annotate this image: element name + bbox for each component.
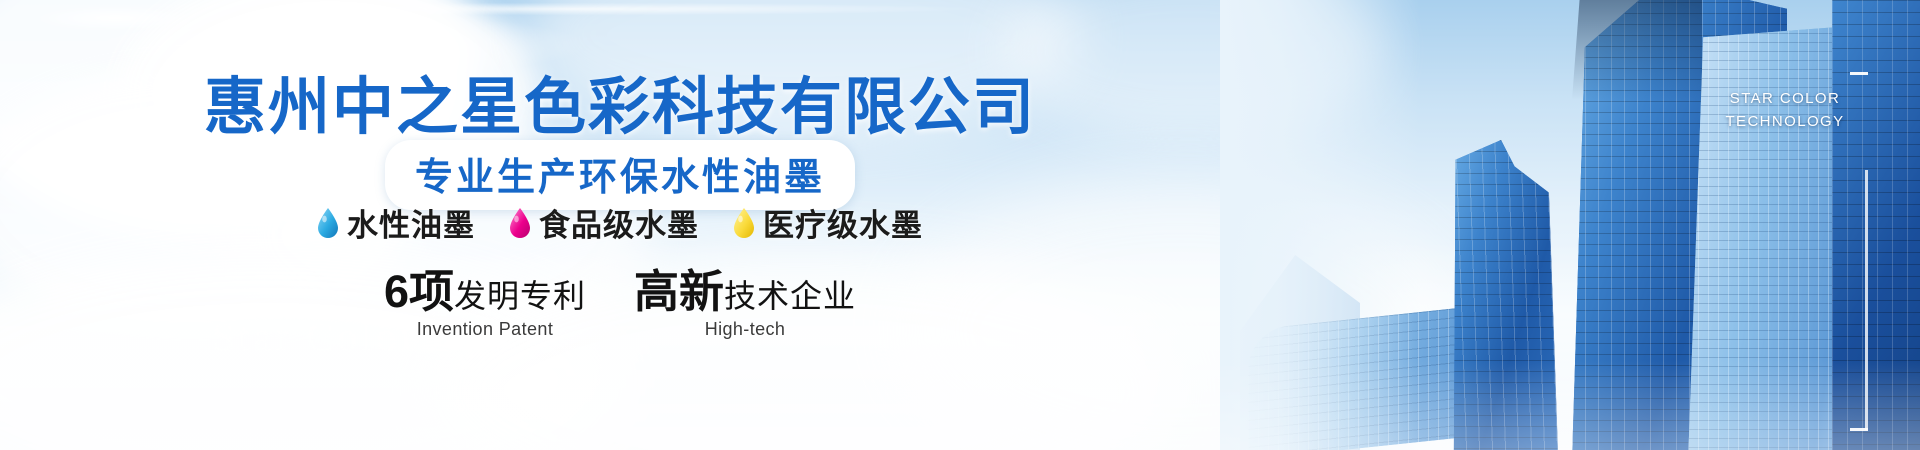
ink-type-item: 食品级水墨 (509, 200, 699, 245)
credential-english: High-tech (634, 319, 856, 340)
building-shadow-cap (1572, 0, 1702, 100)
brand-tick-bottom (1850, 428, 1868, 431)
credential-item: 6项发明专利 Invention Patent (384, 268, 586, 340)
brand-tick-top (1850, 72, 1868, 75)
ink-type-label: 医疗级水墨 (763, 200, 923, 245)
credential-highlight: 高新 (634, 266, 724, 317)
skyscraper-photo-region: STAR COLOR TECHNOLOGY (1220, 0, 1920, 450)
water-drop-icon (317, 208, 339, 238)
brand-mark: STAR COLOR TECHNOLOGY (1705, 88, 1865, 133)
credential-rest: 技术企业 (724, 278, 856, 314)
skyline-bottom-fade (1220, 360, 1920, 450)
ink-type-item: 医疗级水墨 (733, 200, 923, 245)
ink-type-item: 水性油墨 (317, 200, 475, 245)
ink-type-list: 水性油墨 食品级水墨 (0, 200, 1240, 245)
ink-type-label: 食品级水墨 (539, 200, 699, 245)
brand-mark-line1: STAR COLOR (1705, 88, 1865, 111)
credential-chinese: 6项发明专利 (384, 268, 586, 315)
company-title: 惠州中之星色彩科技有限公司 (0, 56, 1240, 146)
credential-highlight: 6项 (384, 266, 454, 317)
credential-english: Invention Patent (384, 319, 586, 340)
ink-type-label: 水性油墨 (347, 200, 475, 245)
water-drop-icon (733, 208, 755, 238)
brand-mark-line2: TECHNOLOGY (1705, 111, 1865, 134)
credential-chinese: 高新技术企业 (634, 268, 856, 315)
banner-content: 惠州中之星色彩科技有限公司 专业生产环保水性油墨 水性油墨 (0, 0, 1240, 450)
credentials-row: 6项发明专利 Invention Patent 高新技术企业 High-tech (0, 268, 1240, 340)
brand-vertical-rule (1865, 170, 1868, 430)
water-drop-icon (509, 208, 531, 238)
credential-rest: 发明专利 (454, 278, 586, 314)
credential-item: 高新技术企业 High-tech (634, 268, 856, 340)
company-hero-banner: Star Color STAR COLOR TECHNOLOGY 惠州中之星色彩… (0, 0, 1920, 450)
